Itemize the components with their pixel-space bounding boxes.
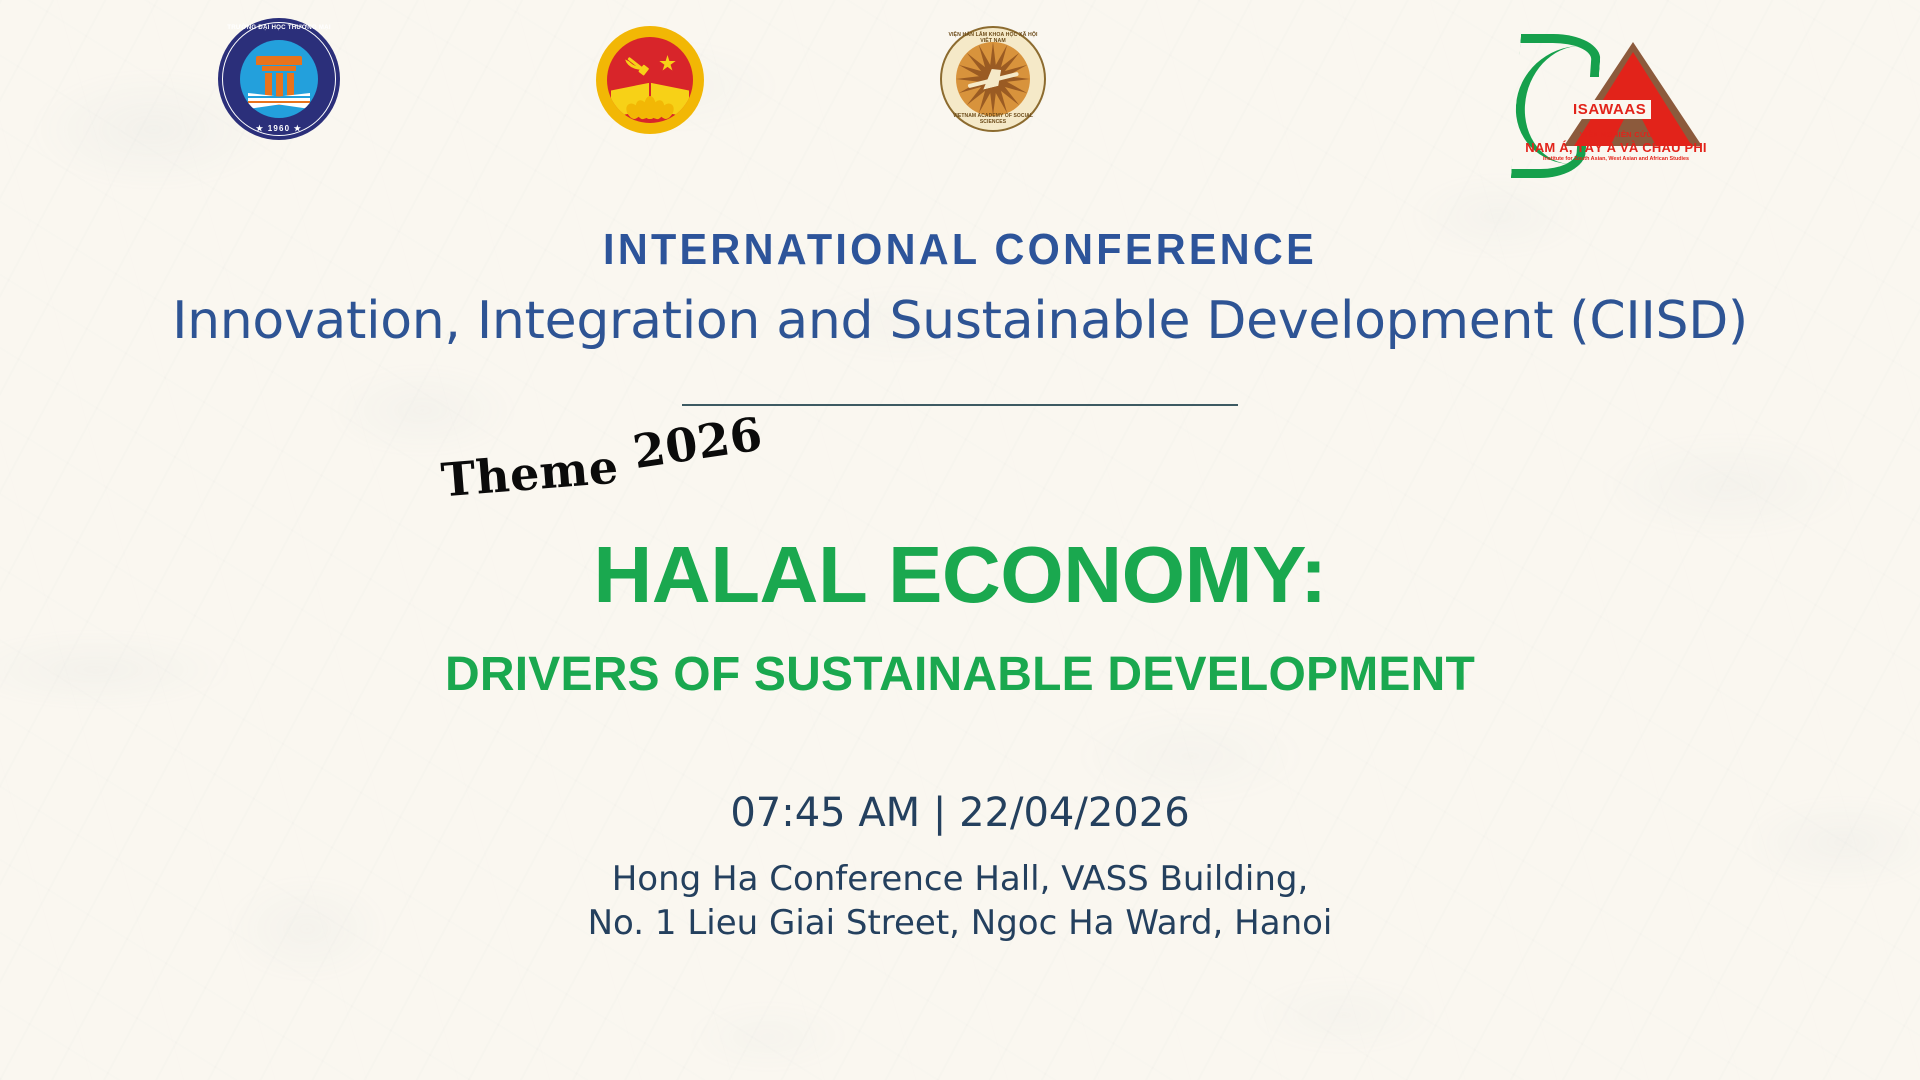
vass-ring-text-bottom: VIETNAM ACADEMY OF SOCIAL SCIENCES xyxy=(942,113,1044,125)
theme-badge-word: Theme xyxy=(439,440,620,508)
tmu-ring-text-top: TRƯỜNG ĐẠI HỌC THƯƠNG MẠI xyxy=(218,24,340,31)
venue-line-1: Hong Ha Conference Hall, VASS Building, xyxy=(0,858,1920,902)
theme-subheadline: DRIVERS OF SUSTAINABLE DEVELOPMENT xyxy=(0,647,1920,702)
hammer-and-sickle-icon xyxy=(625,54,649,74)
isawaas-logo: ISAWAAS VIỆN NGHIÊN CỨU NAM Á, TÂY Á VÀ … xyxy=(1516,28,1716,168)
isawaas-line3: Institute for South Asian, West Asian an… xyxy=(1516,156,1716,162)
hcm-national-academy-politics-logo xyxy=(596,26,704,134)
conference-kicker: INTERNATIONAL CONFERENCE xyxy=(58,225,1863,275)
lotus-icon xyxy=(627,93,673,119)
tmu-ring-text-bottom: ★ 1960 ★ xyxy=(218,124,340,133)
logo-row: TRƯỜNG ĐẠI HỌC THƯƠNG MẠI ★ 1960 ★ xyxy=(0,18,1920,158)
isawaas-line1: VIỆN NGHIÊN CỨU xyxy=(1516,130,1716,139)
hcma-inner-disc xyxy=(607,37,693,123)
star-icon xyxy=(659,55,676,72)
theme-headline: HALAL ECONOMY: xyxy=(0,529,1920,621)
divider-rule xyxy=(682,404,1238,406)
event-datetime: 07:45 AM | 22/04/2026 xyxy=(0,790,1920,836)
theme-badge-year: 2026 xyxy=(629,407,766,480)
vass-inner-disc xyxy=(956,42,1030,116)
isawaas-line2: NAM Á, TÂY Á VÀ CHÂU PHI xyxy=(1516,140,1716,155)
tmu-inner-disc xyxy=(240,40,318,118)
event-venue: Hong Ha Conference Hall, VASS Building, … xyxy=(0,858,1920,945)
theme-year-badge: Theme 2026 xyxy=(438,407,766,511)
conference-poster: TRƯỜNG ĐẠI HỌC THƯƠNG MẠI ★ 1960 ★ xyxy=(0,0,1920,1080)
venue-line-2: No. 1 Lieu Giai Street, Ngoc Ha Ward, Ha… xyxy=(0,902,1920,946)
vietnam-academy-social-sciences-logo: VIỆN HÀN LÂM KHOA HỌC XÃ HỘI VIỆT NAM VI… xyxy=(940,26,1046,132)
isawaas-acronym: ISAWAAS xyxy=(1568,100,1651,119)
thuongmai-university-logo: TRƯỜNG ĐẠI HỌC THƯƠNG MẠI ★ 1960 ★ xyxy=(218,18,340,140)
conference-title: Innovation, Integration and Sustainable … xyxy=(0,291,1920,351)
